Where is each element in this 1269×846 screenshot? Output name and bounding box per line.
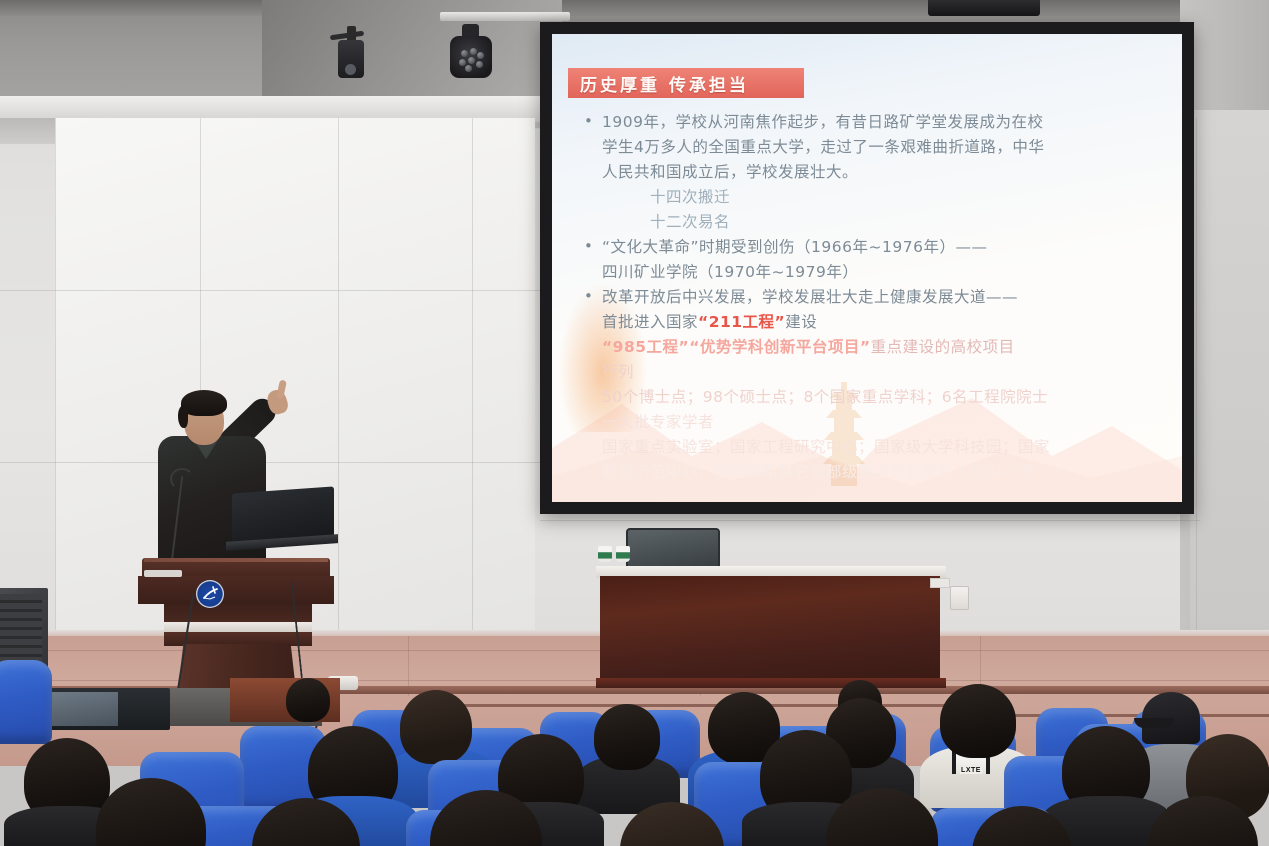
podium-shelf [138, 576, 334, 604]
podium-midsection [164, 602, 312, 624]
audience-head [286, 678, 330, 722]
lecture-hall-scene: 历史厚重 传承担当 1909年，学校从河南焦作起步，有昔日路矿学堂发展成为在校 … [0, 0, 1269, 846]
wall-seam [0, 290, 540, 291]
line-211-prefix: 首批进入国家 [602, 313, 698, 331]
slide-line: “文化大革命”时期受到创伤（1966年~1976年）—— [580, 235, 1166, 260]
seat[interactable] [0, 660, 52, 744]
slide-line: 改革开放后中兴发展，学校发展壮大走上健康发展大道—— [580, 285, 1166, 310]
podium-top-highlight [144, 558, 328, 562]
slide-faded-line: 一大批专家学者 [580, 410, 1166, 435]
slide-line-211: 首批进入国家“211工程”建设 [580, 310, 1166, 335]
audience-head [594, 704, 660, 770]
wall-seam [540, 520, 1200, 521]
line-985-suffix: 重点建设的高校项目 [871, 338, 1015, 356]
slide-line: 十二次易名 [580, 210, 1166, 235]
slide-faded-line: 行列 [580, 360, 1166, 385]
projection-screen-surface: 历史厚重 传承担当 1909年，学校从河南焦作起步，有昔日路矿学堂发展成为在校 … [552, 34, 1182, 502]
wall-seam [55, 118, 56, 678]
line-985-highlight-a: “985工程” [602, 338, 689, 356]
slide-line: 人民共和国成立后，学校发展壮大。 [580, 160, 1166, 185]
slide-line: 学生4万多人的全国重点大学，走过了一条艰难曲折道路，中华 [580, 135, 1166, 160]
line-211-highlight: “211工程” [698, 313, 785, 331]
slide-line: 十四次搬迁 [580, 185, 1166, 210]
audience-area: LXTE [0, 630, 1269, 846]
right-wall-shade [1190, 110, 1269, 650]
paper-cup [598, 546, 612, 562]
slide-faded-line: 50个博士点；98个硕士点；8个国家重点学科；6名工程院院士 [580, 385, 1166, 410]
slide-line: 1909年，学校从河南焦作起步，有昔日路矿学堂发展成为在校 [580, 110, 1166, 135]
light-strip-icon [440, 12, 570, 21]
ceiling-projector-box-icon [928, 0, 1040, 16]
wall-power-socket[interactable] [950, 586, 969, 610]
slide-line-985: “985工程”“优势学科创新平台项目”重点建设的高校项目 [580, 335, 1166, 360]
wall-seam [1196, 118, 1197, 658]
slide-line: 四川矿业学院（1970年~1979年） [580, 260, 1166, 285]
par-can-leds [458, 48, 484, 72]
slide-title-bar: 历史厚重 传承担当 [568, 68, 804, 98]
aisle-desk-panel [52, 692, 118, 726]
cap-brim [1134, 718, 1174, 728]
wall-label-plate [930, 578, 950, 588]
slide-faded-line: 国家重点实验室；国家工程研究中心；国家级大学科技园；国家 [580, 435, 1166, 460]
line-211-suffix: 建设 [785, 313, 817, 331]
slide-body: 1909年，学校从河南焦作起步，有昔日路矿学堂发展成为在校 学生4万多人的全国重… [580, 110, 1166, 485]
slide-title-text: 历史厚重 传承担当 [568, 71, 749, 96]
audience-head [940, 684, 1016, 758]
projection-screen-frame: 历史厚重 传承担当 1909年，学校从河南焦作起步，有昔日路矿学堂发展成为在校 … [540, 22, 1194, 514]
paper-cup [616, 546, 630, 562]
slide-content: 历史厚重 传承担当 1909年，学校从河南焦作起步，有昔日路矿学堂发展成为在校 … [552, 34, 1182, 502]
hoodie-label-text: LXTE [960, 767, 982, 774]
ceiling-beam [0, 0, 1269, 16]
spotlight-lens [345, 64, 356, 75]
audience-head [400, 690, 472, 764]
presenter-hair-side [178, 406, 188, 428]
slide-faded-line: 教育示范中心；教育部和其它省部级重点实验室和工程中心等 [580, 460, 1166, 485]
podium-left-lip [144, 570, 182, 577]
emblem-crossed-tools-icon [201, 586, 219, 602]
line-985-highlight-b: “优势学科创新平台项目” [689, 338, 870, 356]
wall-seam [472, 118, 473, 678]
